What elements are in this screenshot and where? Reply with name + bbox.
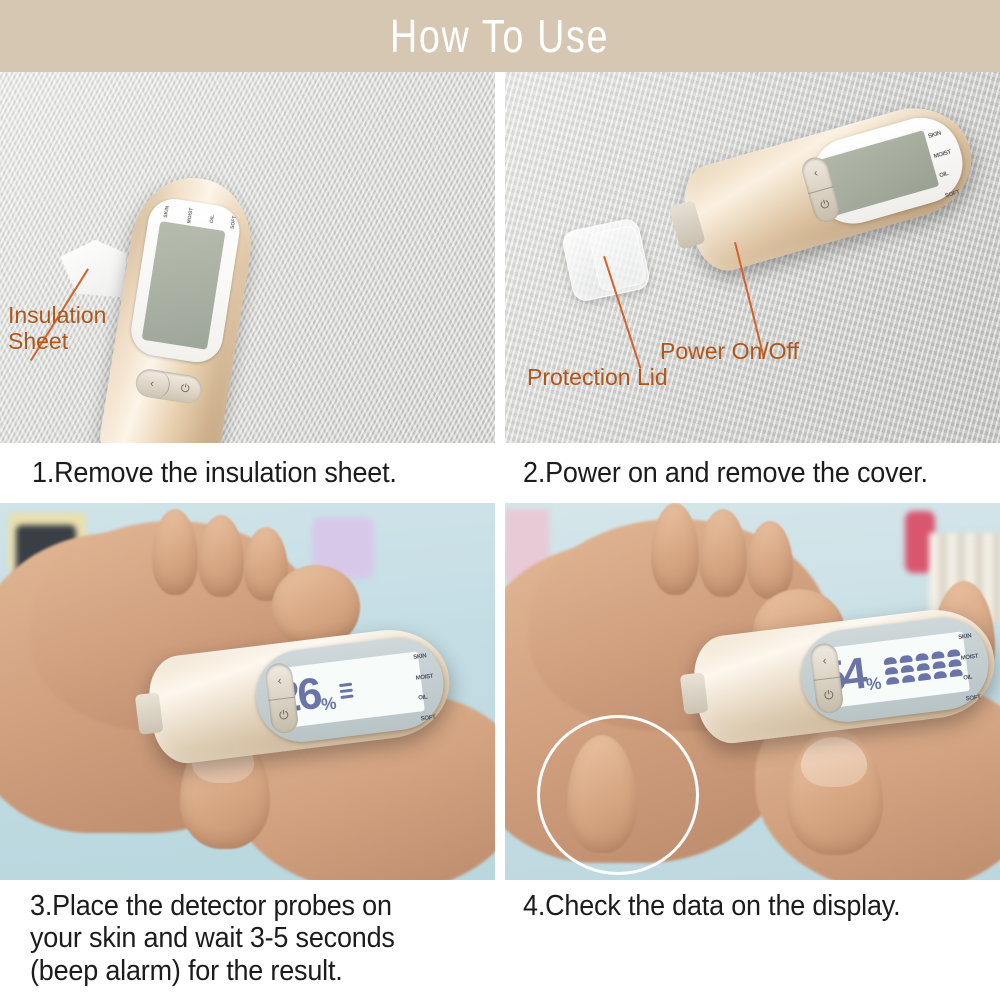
step-3-photo: 26 % SKIN MOIST OIL SOFT ‹ ⏻ [0,503,495,880]
side-label-skin: SKIN [163,205,181,219]
side-label-skin: SKIN [928,131,942,140]
bar-segment [915,652,929,661]
side-label-oil: OIL [418,693,443,702]
side-label-moist: MOIST [415,673,440,682]
page-header: How To Use [0,0,1000,72]
step-4-photo: 54 % [505,503,1000,880]
side-label-skin: SKIN [413,652,438,661]
bar-segment [931,650,945,659]
side-label-soft: SOFT [965,693,990,702]
side-label-skin: SKIN [958,632,983,641]
bar-segment [916,662,930,671]
step-1-photo: SKIN MOIST OIL SOFT ‹ ⏻ Insulation Sheet [0,72,495,443]
back-arrow-icon[interactable]: ‹ [809,642,840,681]
side-label-moist: MOIST [960,653,985,662]
annotation-insulation-sheet: Insulation Sheet [8,302,106,354]
side-label-moist: MOIST [186,207,204,225]
device-probe [680,672,709,715]
bar-segment [886,676,900,685]
lcd-bar-indicator [883,648,963,684]
bar-segment [884,666,898,675]
bar-segment [899,654,913,663]
bar-segment [949,668,963,677]
side-label-oil: OIL [963,673,988,682]
bar-segment [947,648,961,657]
side-label-moist: MOIST [933,149,951,160]
step-3-caption: 3.Place the detector probes on your skin… [0,880,495,1000]
lcd-unit: % [320,694,337,716]
side-label-soft: SOFT [944,189,960,199]
step-4-caption: 4.Check the data on the display. [505,880,1000,1000]
annotation-protection-lid: Protection Lid [527,364,668,390]
bar-segment [900,664,914,673]
annotation-power-onoff: Power On/Off [660,338,799,364]
bar-segment [339,682,352,687]
bar-segment [933,670,947,679]
lcd-screen [142,221,226,350]
how-to-use-infographic: How To Use SKIN MOIST OIL SOFT ‹ ⏻ [0,0,1000,1000]
bar-segment [340,694,353,699]
power-icon[interactable]: ⏻ [813,677,844,715]
bar-segment [902,674,916,683]
side-label-oil: OIL [209,214,226,225]
lcd-unit: % [865,674,882,696]
step-2-photo: SKIN MOIST OIL SOFT ‹ ⏻ Power On/Off Pro… [505,72,1000,443]
page-title: How To Use [390,9,609,63]
side-label-soft: SOFT [229,215,247,231]
bar-segment [948,658,962,667]
bar-segment [883,656,897,665]
step-1-caption: 1.Remove the insulation sheet. [0,443,495,503]
side-label-oil: OIL [939,171,949,179]
bar-segment [340,688,353,693]
lcd-bar-indicator [339,682,354,698]
bar-segment [932,660,946,669]
bar-segment [917,672,931,681]
step-2-caption: 2.Power on and remove the cover. [505,443,1000,503]
fingernail [801,737,867,787]
device-probe [135,692,164,735]
power-icon[interactable]: ⏻ [268,697,299,735]
side-label-soft: SOFT [420,713,445,722]
back-arrow-icon[interactable]: ‹ [264,662,295,701]
